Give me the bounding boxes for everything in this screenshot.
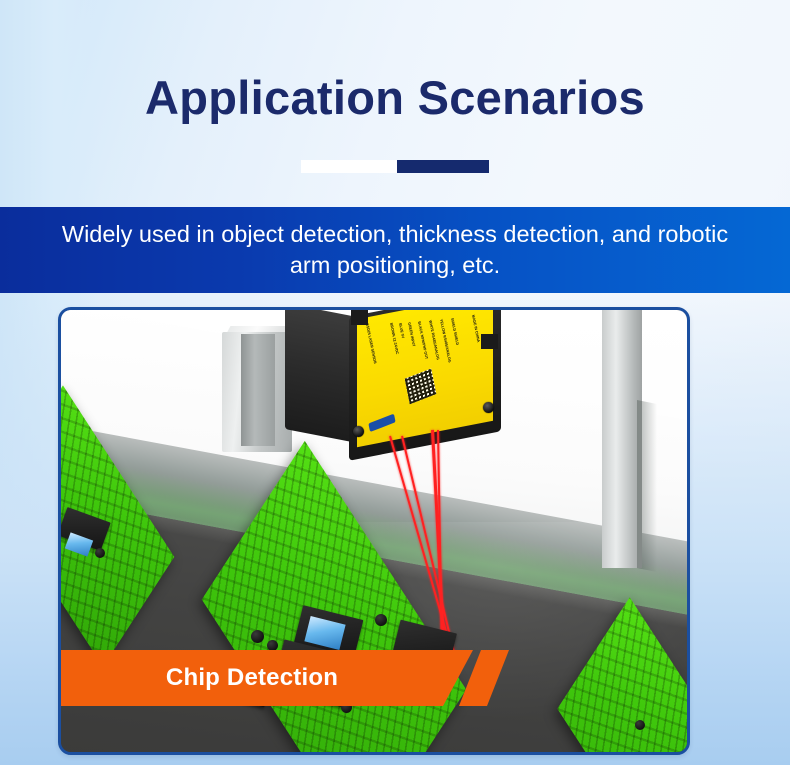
pcb-capacitor — [267, 640, 278, 651]
pcb-capacitor — [435, 672, 447, 684]
sensor-label-line-8: MADE IN CHINA — [471, 314, 480, 343]
sensor-label-line-3: GREEN INPUT — [407, 322, 416, 348]
subtitle-banner: Widely used in object detection, thickne… — [0, 207, 790, 293]
subtitle-text: Widely used in object detection, thickne… — [0, 219, 790, 281]
qr-code-icon — [405, 368, 437, 404]
brand-logo — [368, 414, 395, 432]
photo-scene: SSD25 LASER SENSOR BROWN 12-24VDC BLUE 0… — [61, 310, 687, 752]
pcb-board-main — [189, 552, 479, 737]
sensor-label-line-7: SHIELD SHIELD — [450, 317, 459, 346]
sensor-label-line-0: SSD25 LASER SENSOR — [365, 323, 377, 365]
page-title-wrapper: Application Scenarios — [0, 72, 790, 124]
pcb-board-bottom-right — [547, 678, 687, 752]
sensor-screw-bottom-right — [483, 402, 494, 413]
sensor-bracket-inner — [241, 334, 275, 446]
pcb-capacitor — [251, 630, 264, 643]
mounting-post-shadow — [637, 400, 657, 572]
sensor-corner-tl — [351, 310, 368, 325]
page-title: Application Scenarios — [0, 72, 790, 124]
divider-segment-dark — [397, 160, 489, 173]
title-divider — [301, 160, 489, 173]
pcb-board-left — [61, 462, 183, 590]
laser-sensor: SSD25 LASER SENSOR BROWN 12-24VDC BLUE 0… — [285, 310, 505, 454]
sensor-corner-tr — [481, 334, 498, 349]
pcb-capacitor — [635, 720, 645, 730]
pcb-capacitor — [95, 548, 105, 558]
pcb-capacitor — [341, 702, 352, 713]
scenario-photo-panel: SSD25 LASER SENSOR BROWN 12-24VDC BLUE 0… — [58, 307, 690, 755]
sensor-label-line-4: BLACK NPN/PNP OUT — [417, 321, 429, 360]
divider-segment-light — [301, 160, 397, 173]
sensor-label-line-2: BLUE 0V — [398, 322, 405, 339]
sensor-label-line-5: WHITE RS485/ANALOG — [428, 320, 440, 361]
sensor-body-side — [285, 310, 357, 443]
sensor-screw-bottom-left — [353, 426, 364, 437]
sensor-label-line-6: YELLOW RS485/ANALOG — [439, 319, 452, 364]
mounting-post — [602, 310, 642, 568]
pcb-capacitor — [375, 614, 387, 626]
